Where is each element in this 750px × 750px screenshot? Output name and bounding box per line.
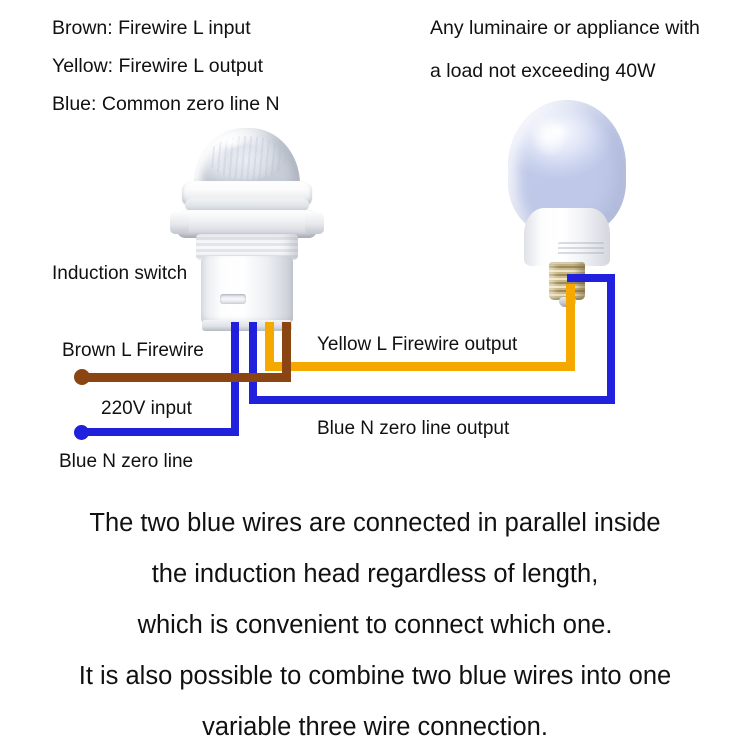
sensor-body	[201, 256, 293, 326]
load-note-line-2: a load not exceeding 40W	[430, 62, 656, 82]
terminal-dot-brown-input	[74, 369, 90, 385]
wire-blue-output-vertical	[607, 274, 615, 404]
footer-line-5: variable three wire connection.	[0, 715, 750, 741]
light-bulb-illustration	[502, 100, 642, 290]
wiring-diagram-page: Brown: Firewire L input Yellow: Firewire…	[0, 0, 750, 750]
wire-yellow-to-bulb-tip	[566, 284, 575, 371]
sensor-adjust-slot	[220, 294, 246, 304]
label-220v-input: 220V input	[98, 398, 195, 419]
bulb-print-marking	[558, 242, 604, 256]
label-yellow-l-firewire-output: Yellow L Firewire output	[313, 334, 521, 355]
label-induction-switch: Induction switch	[52, 264, 187, 283]
bulb-body	[524, 208, 610, 266]
sensor-mounting-tab-right	[305, 212, 324, 234]
legend-line-blue: Blue: Common zero line N	[52, 95, 280, 115]
footer-line-2: the induction head regardless of length,	[0, 562, 750, 588]
wire-brown-sensor-pigtail	[282, 322, 291, 382]
footer-line-1: The two blue wires are connected in para…	[0, 511, 750, 537]
induction-sensor-illustration	[168, 128, 326, 333]
sensor-mounting-tab-left	[170, 212, 189, 234]
legend-line-brown: Brown: Firewire L input	[52, 19, 251, 39]
sensor-base-lip	[202, 320, 292, 331]
footer-line-3: which is convenient to connect which one…	[0, 613, 750, 639]
wire-blue-output-horizontal	[249, 396, 615, 404]
footer-line-4: It is also possible to combine two blue …	[0, 664, 750, 690]
load-note-line-1: Any luminaire or appliance with	[430, 19, 700, 39]
sensor-dome-highlight	[216, 134, 246, 149]
label-blue-n-zero-line: Blue N zero line	[59, 452, 193, 471]
wire-blue-input-horizontal	[82, 428, 239, 436]
wire-brown-input-horizontal	[82, 373, 287, 382]
wire-yellow-horizontal	[265, 362, 575, 371]
wire-blue-sensor-pigtail-2	[249, 322, 257, 404]
terminal-dot-blue-input	[74, 425, 89, 440]
wire-blue-to-bulb-base	[567, 274, 615, 282]
label-brown-l-firewire: Brown L Firewire	[59, 340, 207, 361]
legend-line-yellow: Yellow: Firewire L output	[52, 57, 263, 77]
label-blue-n-zero-line-output: Blue N zero line output	[313, 418, 513, 439]
